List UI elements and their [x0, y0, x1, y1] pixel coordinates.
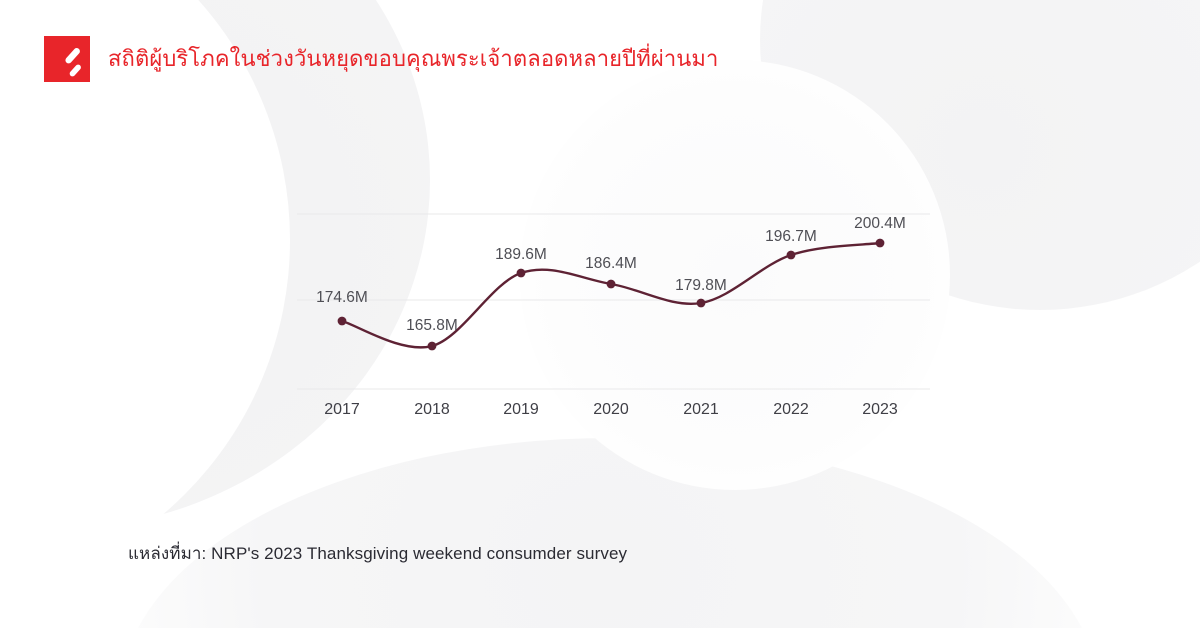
- x-tick-2019: 2019: [503, 401, 539, 418]
- value-label-2018: 165.8M: [406, 317, 458, 334]
- chart-gridlines: [297, 214, 930, 389]
- x-axis-tick-labels: 2017201820192020202120222023: [324, 401, 898, 418]
- header: สถิติผู้บริโภคในช่วงวันหยุดขอบคุณพระเจ้า…: [44, 36, 718, 82]
- line-chart: 174.6M165.8M189.6M186.4M179.8M196.7M200.…: [0, 0, 1200, 628]
- value-label-2022: 196.7M: [765, 228, 817, 245]
- x-tick-2020: 2020: [593, 401, 629, 418]
- series-value-labels: 174.6M165.8M189.6M186.4M179.8M196.7M200.…: [316, 215, 906, 334]
- x-tick-2021: 2021: [683, 401, 719, 418]
- value-label-2023: 200.4M: [854, 215, 906, 232]
- data-point-2022[interactable]: [787, 251, 796, 260]
- value-label-2021: 179.8M: [675, 277, 727, 294]
- data-point-2017[interactable]: [338, 317, 347, 326]
- data-point-2020[interactable]: [607, 280, 616, 289]
- chart-svg: 174.6M165.8M189.6M186.4M179.8M196.7M200.…: [0, 0, 1200, 628]
- fastwork-pen-logo-icon: [44, 36, 90, 82]
- data-point-2023[interactable]: [876, 239, 885, 248]
- source-note: แหล่งที่มา: NRP's 2023 Thanksgiving week…: [128, 540, 627, 567]
- x-tick-2018: 2018: [414, 401, 450, 418]
- value-label-2017: 174.6M: [316, 289, 368, 306]
- data-point-2018[interactable]: [428, 342, 437, 351]
- data-point-2019[interactable]: [517, 269, 526, 278]
- x-tick-2022: 2022: [773, 401, 809, 418]
- value-label-2019: 189.6M: [495, 246, 547, 263]
- x-tick-2017: 2017: [324, 401, 360, 418]
- page-title: สถิติผู้บริโภคในช่วงวันหยุดขอบคุณพระเจ้า…: [108, 45, 718, 73]
- value-label-2020: 186.4M: [585, 255, 637, 272]
- data-point-2021[interactable]: [697, 299, 706, 308]
- x-tick-2023: 2023: [862, 401, 898, 418]
